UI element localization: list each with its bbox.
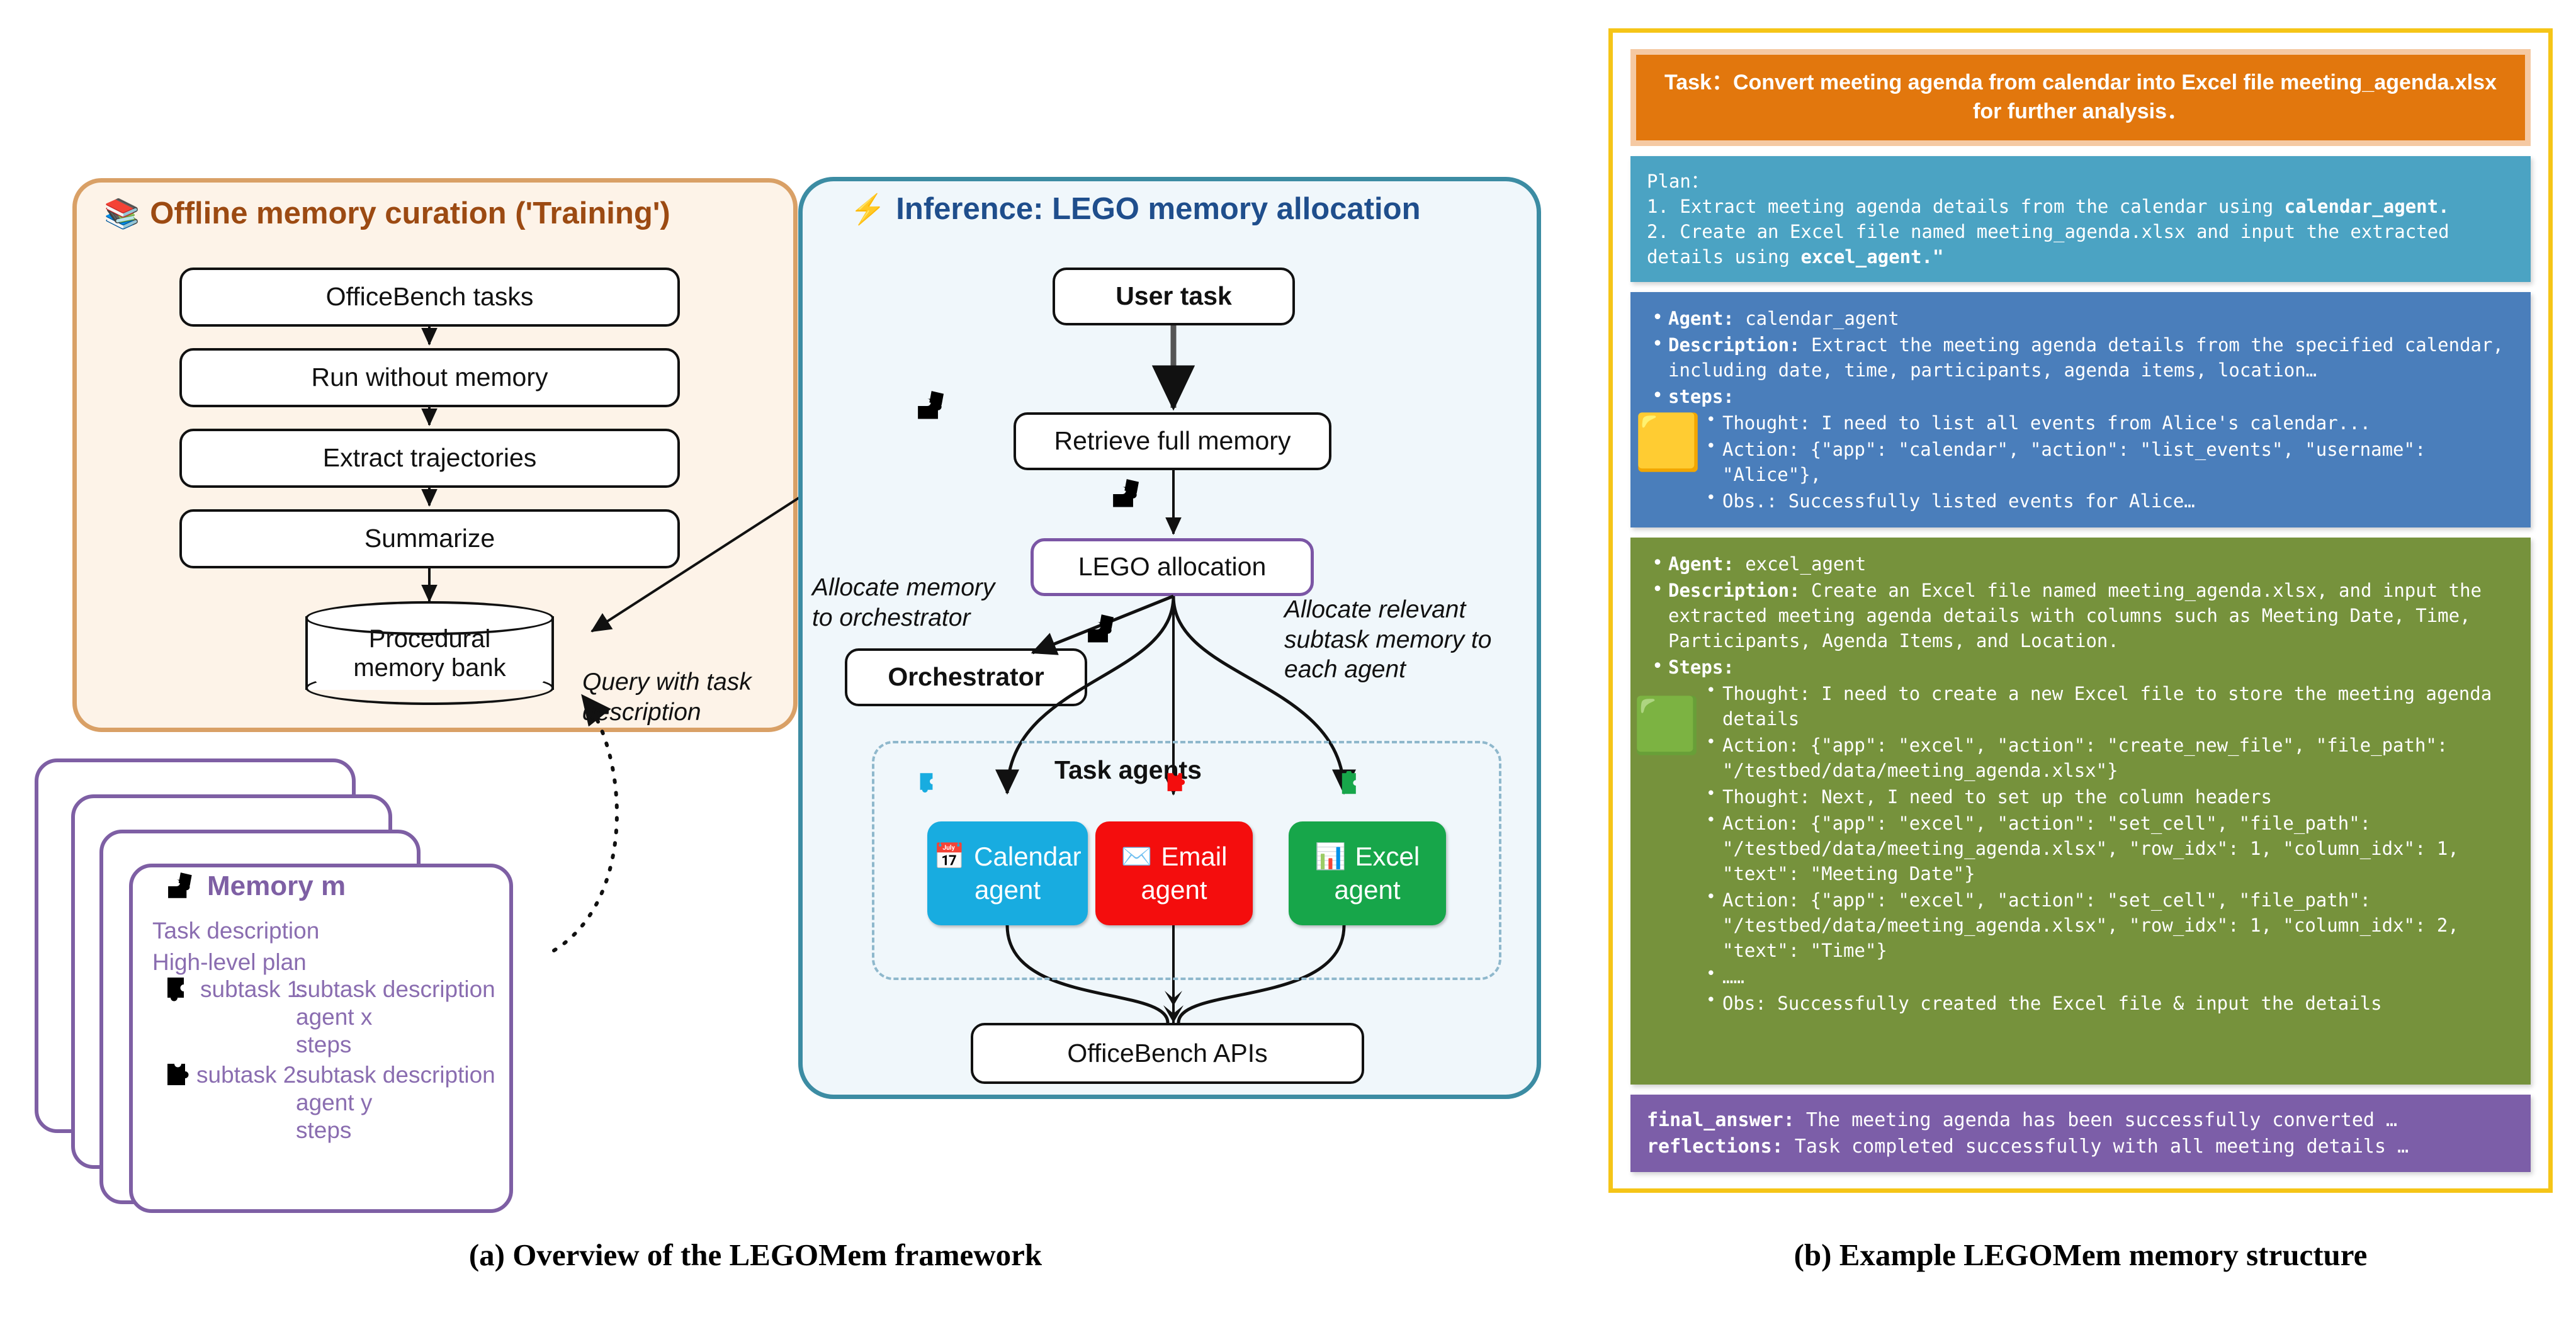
inference-panel-title: ⚡ Inference: LEGO memory allocation (850, 191, 1421, 227)
memory-card-m-subtask1-label: subtask 1: (200, 974, 307, 1005)
excel-agent-steps-label: Steps: (1647, 655, 2514, 680)
flow-box-user-task: User task (1053, 268, 1295, 325)
procedural-memory-bank: Procedural memory bank (305, 601, 554, 705)
agent-excel-name: Excel (1355, 840, 1420, 874)
figure-a-caption: (a) Overview of the LEGOMem framework (239, 1237, 1272, 1273)
figure-a-overview: 📚 Offline memory curation ('Training') O… (0, 0, 1574, 1342)
plan-heading: Plan： (1647, 169, 2514, 194)
calendar-agent-block: 🟨 Agent: calendar_agent Description: Ext… (1630, 292, 2531, 527)
calendar-step-thought: Thought: I need to list all events from … (1701, 410, 2514, 436)
task-header-banner: Task：Convert meeting agenda from calenda… (1630, 49, 2531, 146)
puzzle-icon-email-agent (1163, 771, 1191, 799)
plan-block: Plan： 1. Extract meeting agenda details … (1630, 156, 2531, 282)
excel-step-obs: Obs: Successfully created the Excel file… (1701, 991, 2514, 1016)
puzzle-icon (167, 872, 197, 901)
agent-calendar-suffix: agent (974, 874, 1041, 907)
flow-box-retrieve-full-memory: Retrieve full memory (1014, 412, 1331, 470)
puzzle-icon-calendar-agent (916, 771, 944, 799)
flow-box-extract-trajectories: Extract trajectories (179, 429, 680, 488)
puzzle-icon-orchestrator (1086, 614, 1120, 645)
agent-email-name: Email (1161, 840, 1227, 874)
flow-box-orchestrator: Orchestrator (845, 648, 1087, 706)
lego-brick-yellow-icon: 🟨 (1634, 415, 1702, 470)
agent-excel-row: 📊 Excel (1315, 840, 1420, 874)
excel-step-action-1: Action: {"app": "excel", "action": "crea… (1701, 733, 2514, 783)
memory-card-m-subtask2-label: subtask 2: (196, 1060, 303, 1091)
memory-card-m-subtask2-agent: agent y (296, 1088, 372, 1119)
agent-email-row: ✉️ Email (1121, 840, 1228, 874)
puzzle-icon-lego-allocation (1111, 478, 1145, 510)
memory-card-m-subtask1-desc: subtask description (296, 974, 495, 1005)
task-label: Task： (1664, 70, 1733, 94)
puzzle-piece-subtask2-icon (165, 1061, 195, 1088)
memory-card-m-subtask1-steps: steps (296, 1030, 351, 1061)
final-answer-block: final_answer: The meeting agenda has bee… (1630, 1095, 2531, 1172)
calendar-step-obs: Obs.: Successfully listed events for Ali… (1701, 488, 2514, 514)
memory-card-m-subtask2-desc: subtask description (296, 1060, 495, 1091)
agent-card-calendar[interactable]: 📅 Calendar agent (927, 821, 1088, 925)
plan-line-2: 2. Create an Excel file named meeting_ag… (1647, 219, 2514, 269)
excel-step-thought-1: Thought: I need to create a new Excel fi… (1701, 681, 2514, 731)
reflections-row: reflections: Task completed successfully… (1647, 1134, 2514, 1159)
agent-calendar-name: Calendar (974, 840, 1081, 874)
memory-bank-label: Procedural memory bank (305, 601, 554, 705)
figure-b-caption: (b) Example LEGOMem memory structure (1608, 1237, 2553, 1273)
allocate-subtask-memory-annotation: Allocate relevant subtask memory to each… (1284, 595, 1491, 685)
puzzle-icon-excel-agent (1336, 771, 1364, 799)
calendar-agent-steps-label: steps: (1647, 384, 2514, 409)
agent-excel-suffix: agent (1334, 874, 1400, 907)
calendar-icon: 📅 (934, 841, 965, 872)
task-text: Convert meeting agenda from calendar int… (1733, 70, 2497, 123)
excel-icon: 📊 (1315, 841, 1347, 872)
allocate-memory-to-orchestrator-annotation: Allocate memory to orchestrator (812, 573, 995, 633)
agent-email-suffix: agent (1141, 874, 1207, 907)
agent-calendar-row: 📅 Calendar (934, 840, 1081, 874)
books-icon: 📚 (104, 199, 140, 228)
flow-box-lego-allocation: LEGO allocation (1031, 538, 1314, 596)
excel-step-ellipsis: …… (1701, 964, 2514, 990)
inference-panel-title-text: Inference: LEGO memory allocation (896, 191, 1420, 227)
memory-card-m-subtask1-agent: agent x (296, 1002, 372, 1033)
excel-agent-block: 🟩 Agent: excel_agent Description: Create… (1630, 538, 2531, 1085)
excel-step-thought-2: Thought: Next, I need to set up the colu… (1701, 784, 2514, 809)
puzzle-icon-retrieve (916, 390, 950, 422)
excel-agent-description-row: Description: Create an Excel file named … (1647, 578, 2514, 653)
flow-box-summarize: Summarize (179, 509, 680, 568)
excel-agent-name-row: Agent: excel_agent (1647, 551, 2514, 577)
lego-brick-green-icon: 🟩 (1633, 699, 1700, 753)
figure-b-memory-structure: Task：Convert meeting agenda from calenda… (1608, 28, 2553, 1193)
memory-card-m-high-level-plan: High-level plan (152, 947, 307, 978)
final-answer-row: final_answer: The meeting agenda has bee… (1647, 1107, 2514, 1133)
excel-step-action-3: Action: {"app": "excel", "action": "set_… (1701, 888, 2514, 963)
agent-card-email[interactable]: ✉️ Email agent (1095, 821, 1253, 925)
memory-card-m-title: Memory m (167, 871, 346, 902)
offline-panel-title-text: Offline memory curation ('Training') (150, 196, 670, 231)
query-with-task-description-annotation: Query with task description (582, 667, 752, 727)
lightning-icon: ⚡ (850, 195, 886, 223)
agent-card-excel[interactable]: 📊 Excel agent (1289, 821, 1446, 925)
flow-box-officebench-apis: OfficeBench APIs (971, 1023, 1364, 1084)
flow-box-run-without-memory: Run without memory (179, 348, 680, 407)
memory-card-m-task-description: Task description (152, 916, 319, 947)
calendar-agent-name-row: Agent: calendar_agent (1647, 306, 2514, 331)
calendar-step-action: Action: {"app": "calendar", "action": "l… (1701, 437, 2514, 487)
plan-line-1: 1. Extract meeting agenda details from t… (1647, 194, 2514, 219)
email-icon: ✉️ (1121, 841, 1153, 872)
calendar-agent-description-row: Description: Extract the meeting agenda … (1647, 332, 2514, 383)
excel-step-action-2: Action: {"app": "excel", "action": "set_… (1701, 811, 2514, 886)
flow-box-officebench-tasks: OfficeBench tasks (179, 268, 680, 327)
memory-card-m-subtask2-steps: steps (296, 1115, 351, 1146)
offline-panel-title: 📚 Offline memory curation ('Training') (104, 196, 670, 231)
puzzle-piece-subtask1-icon (165, 976, 195, 1003)
